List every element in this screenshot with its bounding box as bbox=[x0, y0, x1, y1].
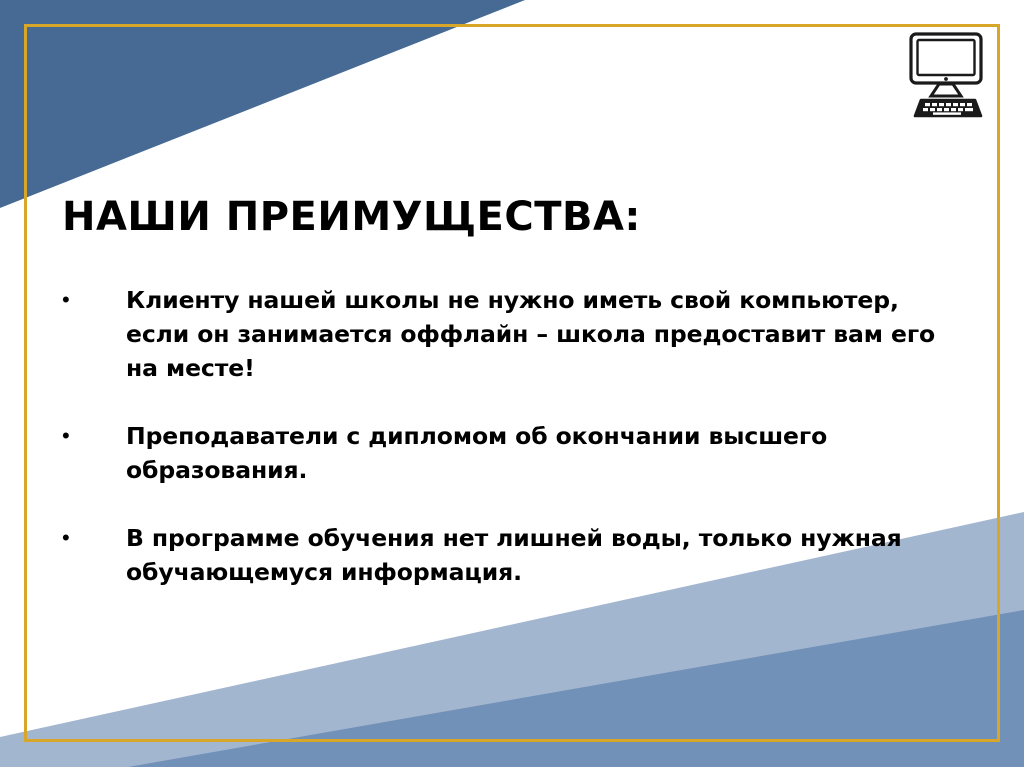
list-item: • В программе обучения нет лишней воды, … bbox=[54, 521, 954, 589]
list-item-text: Преподаватели с дипломом об окончании вы… bbox=[126, 419, 954, 487]
page-title: НАШИ ПРЕИМУЩЕСТВА: bbox=[62, 196, 641, 238]
bullet-marker-icon: • bbox=[54, 521, 126, 555]
list-item: • Преподаватели с дипломом об окончании … bbox=[54, 419, 954, 487]
list-item-text: Клиенту нашей школы не нужно иметь свой … bbox=[126, 283, 954, 385]
advantages-list: • Клиенту нашей школы не нужно иметь сво… bbox=[54, 283, 954, 623]
slide-canvas: НАШИ ПРЕИМУЩЕСТВА: • Клиенту нашей школы… bbox=[0, 0, 1024, 767]
list-item: • Клиенту нашей школы не нужно иметь сво… bbox=[54, 283, 954, 385]
list-item-text: В программе обучения нет лишней воды, то… bbox=[126, 521, 954, 589]
slide-content: НАШИ ПРЕИМУЩЕСТВА: • Клиенту нашей школы… bbox=[0, 0, 1024, 767]
bullet-marker-icon: • bbox=[54, 283, 126, 317]
bullet-marker-icon: • bbox=[54, 419, 126, 453]
